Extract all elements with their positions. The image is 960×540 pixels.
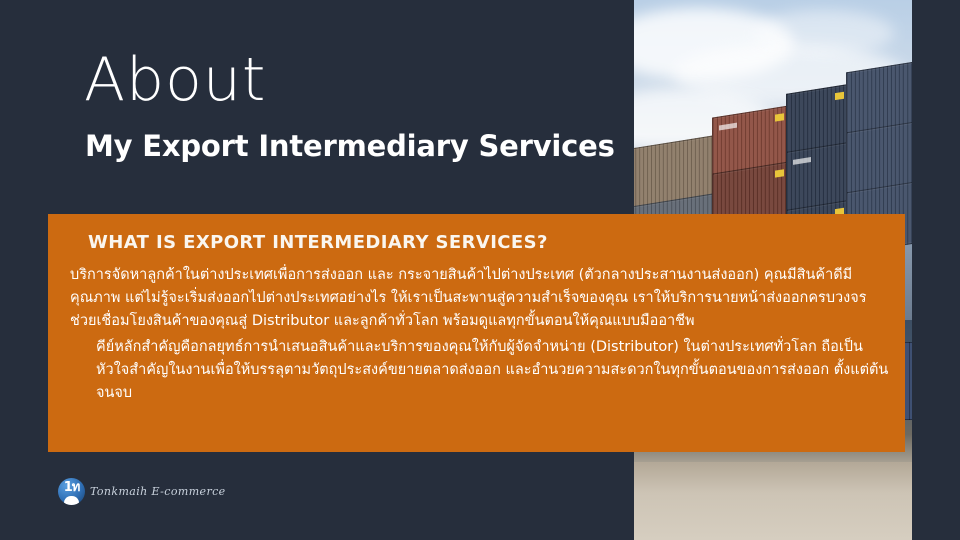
yard-ground xyxy=(634,462,912,540)
logo-arch-shape xyxy=(64,496,79,505)
logo-mark-icon: 1ท xyxy=(58,478,85,505)
slide-root: About My Export Intermediary Services WH… xyxy=(0,0,960,540)
cloud-shape xyxy=(754,10,894,56)
content-panel: WHAT IS EXPORT INTERMEDIARY SERVICES? บร… xyxy=(48,214,905,452)
panel-body: บริการจัดหาลูกค้าในต่างประเทศเพื่อการส่ง… xyxy=(70,264,889,404)
page-title: About xyxy=(84,50,266,110)
logo-wordmark: Tonkmaih E-commerce xyxy=(90,485,226,498)
body-paragraph-1: บริการจัดหาลูกค้าในต่างประเทศเพื่อการส่ง… xyxy=(70,264,889,333)
panel-heading: WHAT IS EXPORT INTERMEDIARY SERVICES? xyxy=(88,232,548,253)
brand-logo[interactable]: 1ท Tonkmaih E-commerce xyxy=(58,478,226,505)
body-paragraph-2: คีย์หลักสำคัญคือกลยุทธ์การนำเสนอสินค้าแล… xyxy=(70,336,889,405)
page-subtitle: My Export Intermediary Services xyxy=(85,132,615,161)
logo-mark-glyph: 1ท xyxy=(58,481,85,494)
